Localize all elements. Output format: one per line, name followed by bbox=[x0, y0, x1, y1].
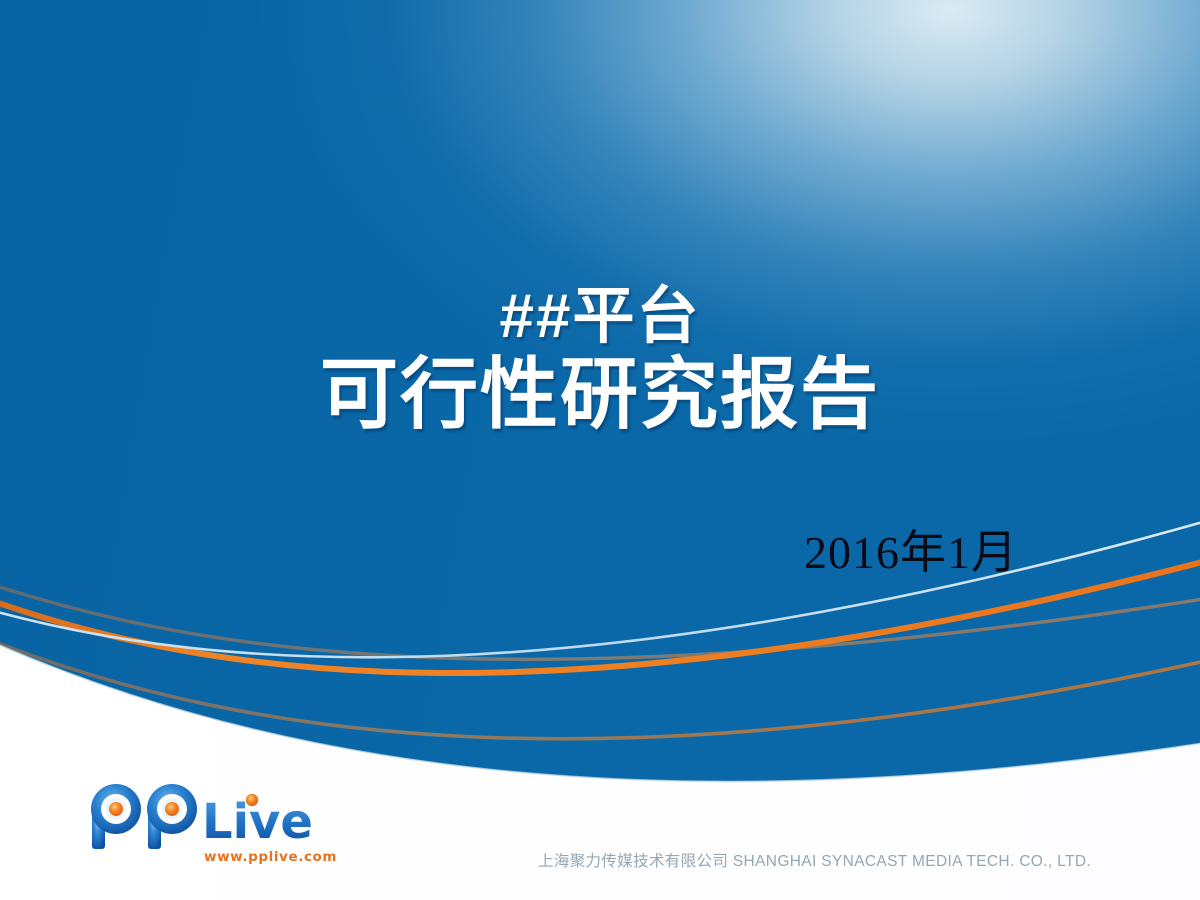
pplive-logo: Live www.pplive.com bbox=[86, 783, 356, 875]
pplive-logo-url: www.pplive.com bbox=[204, 849, 337, 865]
decorative-swoosh-artwork bbox=[0, 0, 1200, 900]
footer-company-name: 上海聚力传媒技术有限公司 SHANGHAI SYNACAST MEDIA TEC… bbox=[538, 849, 1091, 871]
pplive-logo-icon: Live bbox=[86, 783, 356, 849]
title-slide: ##平台 可行性研究报告 2016年1月 bbox=[0, 0, 1200, 900]
slide-date: 2016年1月 bbox=[0, 516, 1200, 582]
